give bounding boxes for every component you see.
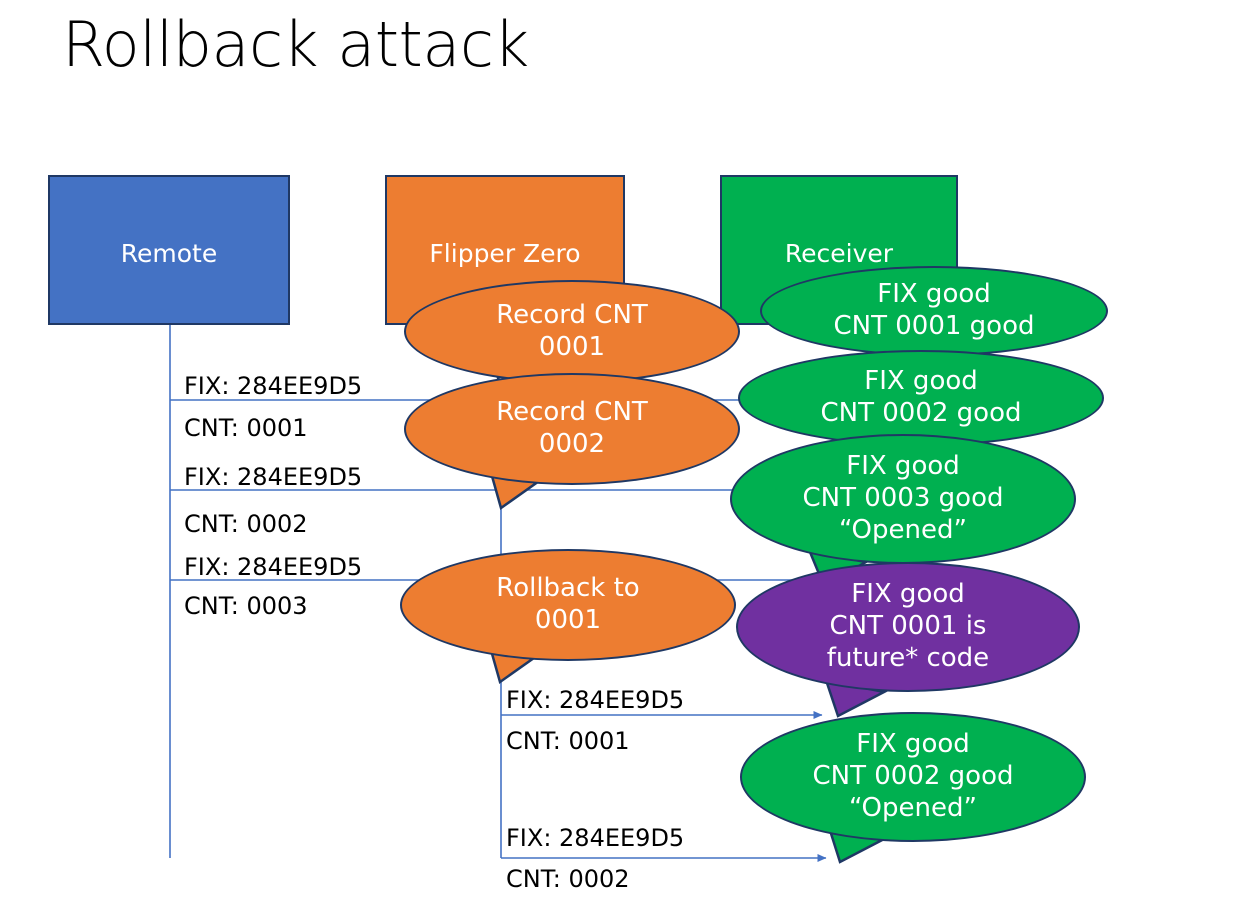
- bubble-line: 0001: [535, 605, 601, 637]
- actor-label-receiver: Receiver: [722, 239, 956, 268]
- message-fix-2: FIX: 284EE9D5: [184, 463, 362, 491]
- bubble-line: CNT 0001 is: [830, 611, 987, 643]
- message-fix-4: FIX: 284EE9D5: [506, 686, 684, 714]
- message-cnt-1: CNT: 0001: [184, 414, 308, 442]
- message-cnt-3: CNT: 0003: [184, 592, 308, 620]
- bubble-rollback-to-0001[interactable]: Rollback to 0001: [400, 549, 736, 661]
- bubble-line: CNT 0002 good: [820, 398, 1021, 430]
- bubble-line: CNT 0003 good: [802, 483, 1003, 515]
- bubble-line: FIX good: [856, 729, 970, 761]
- message-fix-5: FIX: 284EE9D5: [506, 824, 684, 852]
- actor-box-remote[interactable]: Remote: [48, 175, 290, 325]
- actor-label-flipper: Flipper Zero: [387, 239, 623, 268]
- bubble-fix-good-cnt-0001-future-code[interactable]: FIX good CNT 0001 is future* code: [736, 562, 1080, 692]
- bubble-line: “Opened”: [849, 793, 977, 825]
- slide-canvas: Rollback attack Remote Flipper Zero Rece…: [0, 0, 1233, 898]
- bubble-fix-good-cnt-0002-good-opened[interactable]: FIX good CNT 0002 good “Opened”: [740, 712, 1086, 842]
- bubble-line: CNT 0002 good: [812, 761, 1013, 793]
- message-cnt-4: CNT: 0001: [506, 727, 630, 755]
- bubble-fix-good-cnt-0003-good-opened[interactable]: FIX good CNT 0003 good “Opened”: [730, 434, 1076, 564]
- bubble-record-cnt-0002[interactable]: Record CNT 0002: [404, 373, 740, 485]
- bubble-line: “Opened”: [839, 515, 967, 547]
- message-fix-3: FIX: 284EE9D5: [184, 553, 362, 581]
- bubble-record-cnt-0001[interactable]: Record CNT 0001: [404, 280, 740, 383]
- bubble-line: Record CNT: [496, 300, 648, 332]
- bubble-line: FIX good: [864, 366, 978, 398]
- bubble-fix-good-cnt-0002-good[interactable]: FIX good CNT 0002 good: [738, 350, 1104, 446]
- bubble-line: 0001: [539, 332, 605, 364]
- bubble-line: CNT 0001 good: [833, 311, 1034, 343]
- message-fix-1: FIX: 284EE9D5: [184, 372, 362, 400]
- bubble-line: FIX good: [877, 279, 991, 311]
- bubble-line: FIX good: [846, 451, 960, 483]
- bubble-line: Record CNT: [496, 397, 648, 429]
- bubble-line: Rollback to: [496, 573, 639, 605]
- bubble-line: 0002: [539, 429, 605, 461]
- bubble-fix-good-cnt-0001-good[interactable]: FIX good CNT 0001 good: [760, 266, 1108, 356]
- actor-label-remote: Remote: [50, 239, 288, 268]
- message-cnt-5: CNT: 0002: [506, 865, 630, 893]
- message-cnt-2: CNT: 0002: [184, 510, 308, 538]
- bubble-line: FIX good: [851, 579, 965, 611]
- bubble-line: future* code: [827, 643, 989, 675]
